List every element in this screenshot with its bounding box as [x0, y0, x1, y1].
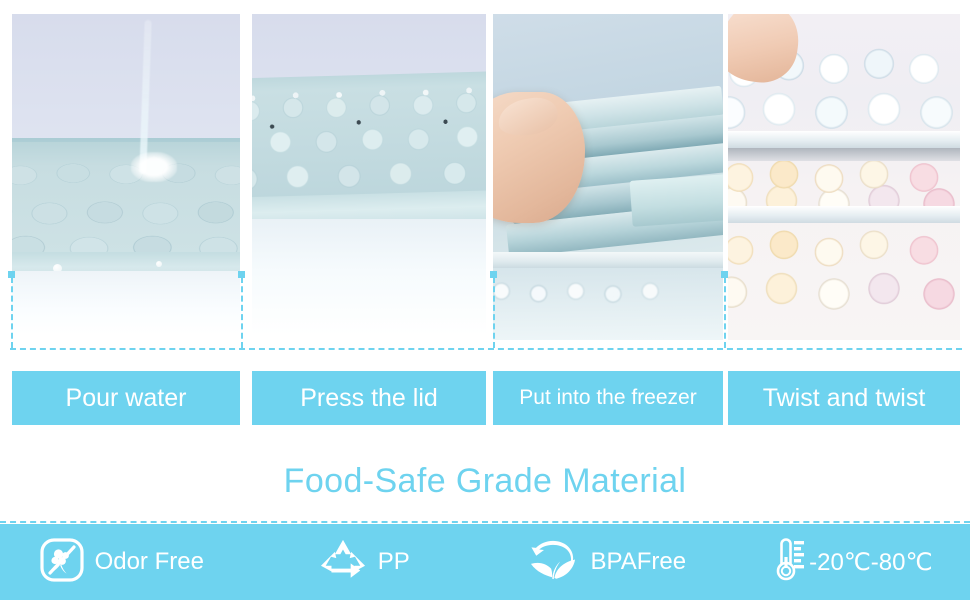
counter-surface	[12, 271, 240, 335]
step-label-3-text: Put into the freezer	[519, 386, 696, 410]
step-photo-3	[493, 14, 723, 340]
step-photo-4	[728, 14, 960, 340]
feature-bar-top-divider	[0, 521, 970, 523]
step-photo-2	[252, 14, 486, 335]
tray-shadow	[728, 148, 960, 161]
ice-ball-cavities	[12, 152, 240, 258]
feature-bar: Odor Free PP	[0, 524, 970, 600]
water-splash	[131, 152, 177, 182]
thermometer-icon	[765, 535, 807, 590]
feature-pp: PP	[243, 537, 486, 588]
step-label-2-text: Press the lid	[300, 384, 438, 413]
bpa-free-leaf-icon	[526, 537, 580, 588]
odor-free-icon	[39, 537, 85, 588]
connector-line-3	[493, 277, 495, 348]
step-label-4[interactable]: Twist and twist	[728, 371, 960, 425]
tray-edge	[728, 131, 960, 147]
connector-line-2	[241, 277, 243, 348]
feature-temperature-label: -20℃-80℃	[809, 548, 932, 577]
step-label-1[interactable]: Pour water	[12, 371, 240, 425]
connector-line-1	[11, 277, 13, 348]
headline: Food-Safe Grade Material	[0, 462, 970, 501]
step-label-3[interactable]: Put into the freezer	[493, 371, 723, 425]
infographic-stage: Pour water Press the lid Put into the fr…	[0, 0, 970, 600]
stored-ice-balls	[493, 272, 723, 321]
recycle-icon	[318, 537, 368, 588]
step-label-1-text: Pour water	[66, 384, 187, 413]
feature-bpa-free: BPAFree	[485, 537, 728, 588]
step-photo-1	[12, 14, 240, 335]
lid-pegs	[252, 84, 486, 181]
step-label-2[interactable]: Press the lid	[252, 371, 486, 425]
feature-bpa-free-label: BPAFree	[590, 548, 686, 576]
feature-odor-free-label: Odor Free	[95, 548, 204, 576]
connector-horizontal-line	[10, 348, 962, 350]
water-droplet	[156, 261, 162, 267]
step-label-4-text: Twist and twist	[763, 384, 926, 413]
freezer-shelf	[493, 252, 723, 268]
container-divider	[728, 206, 960, 222]
colored-ice-balls-lower	[728, 223, 960, 314]
connector-line-4	[724, 277, 726, 348]
feature-pp-label: PP	[378, 548, 410, 576]
feature-odor-free: Odor Free	[0, 537, 243, 588]
side-tray	[630, 173, 723, 226]
feature-temperature-range: -20℃-80℃	[728, 535, 970, 590]
counter-surface	[252, 219, 486, 335]
